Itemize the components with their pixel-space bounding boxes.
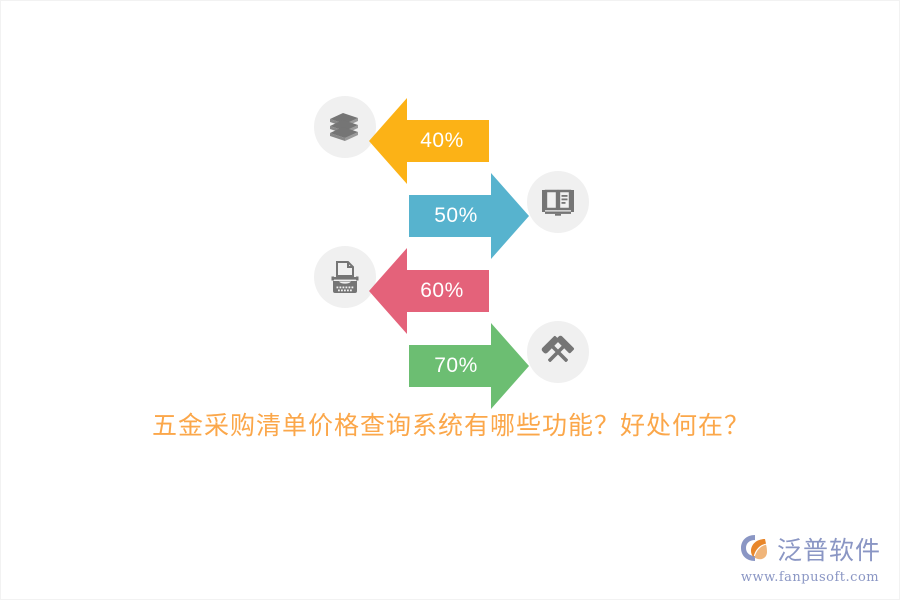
poster-canvas: 40% 50%: [0, 0, 900, 600]
page-title: 五金采购清单价格查询系统有哪些功能？好处何在？: [1, 406, 900, 442]
book-stack-icon: [314, 96, 376, 158]
brand-logo: 泛普软件 www.fanpusoft.com: [739, 533, 881, 585]
hammers-icon: [527, 321, 589, 383]
fanpu-logo-mark-icon: [739, 533, 773, 568]
brand-url: www.fanpusoft.com: [739, 570, 881, 585]
arrow-bar-70: 70%: [409, 321, 529, 411]
diagram-row-4: 70%: [409, 321, 589, 411]
typewriter-icon: [314, 246, 376, 308]
brand-name: 泛普软件: [777, 538, 881, 563]
brand-logo-row: 泛普软件: [739, 533, 881, 568]
open-book-icon: [527, 171, 589, 233]
arrow-diagram: 40% 50%: [1, 1, 900, 401]
